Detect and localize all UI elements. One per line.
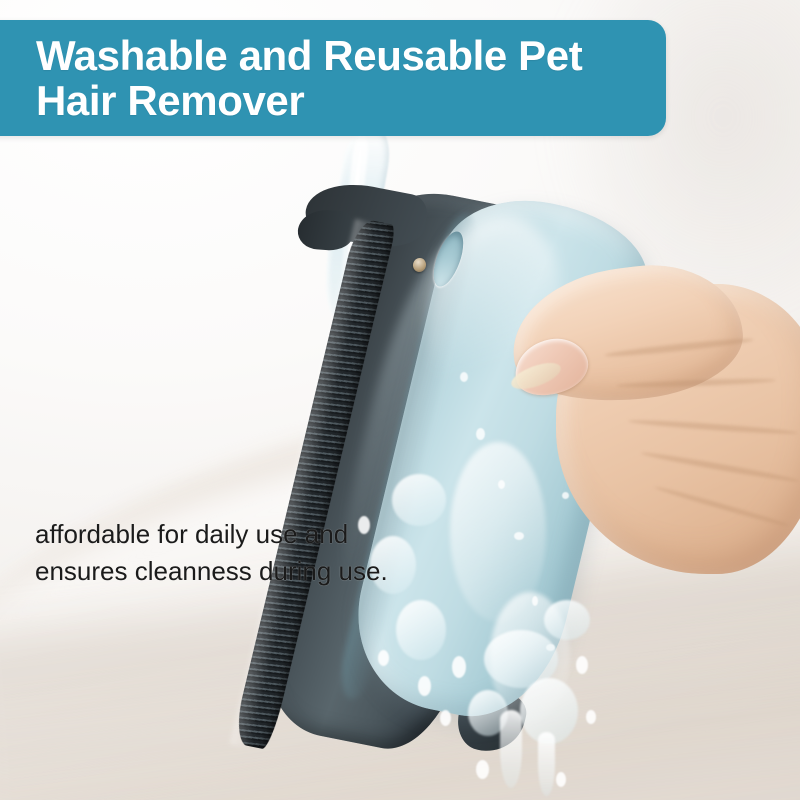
water-droplet bbox=[498, 480, 505, 489]
falling-water bbox=[538, 732, 555, 796]
product-feature-image: Washable and Reusable Pet Hair Remover a… bbox=[0, 0, 800, 800]
droplet bbox=[476, 760, 489, 779]
banner-title: Washable and Reusable Pet Hair Remover bbox=[0, 33, 582, 124]
droplet bbox=[576, 656, 588, 674]
holding-hand bbox=[520, 258, 800, 588]
droplet bbox=[586, 710, 596, 724]
water-splash-left bbox=[300, 450, 480, 750]
droplet bbox=[418, 676, 431, 696]
headline-banner: Washable and Reusable Pet Hair Remover bbox=[0, 20, 666, 136]
feature-caption: affordable for daily use and ensures cle… bbox=[35, 516, 465, 590]
droplet bbox=[556, 772, 566, 787]
water-droplet bbox=[476, 428, 485, 440]
splash-blob bbox=[396, 600, 446, 660]
falling-water bbox=[500, 710, 522, 788]
water-droplet bbox=[460, 372, 468, 382]
droplet bbox=[378, 650, 389, 666]
splash-blob bbox=[544, 600, 590, 640]
